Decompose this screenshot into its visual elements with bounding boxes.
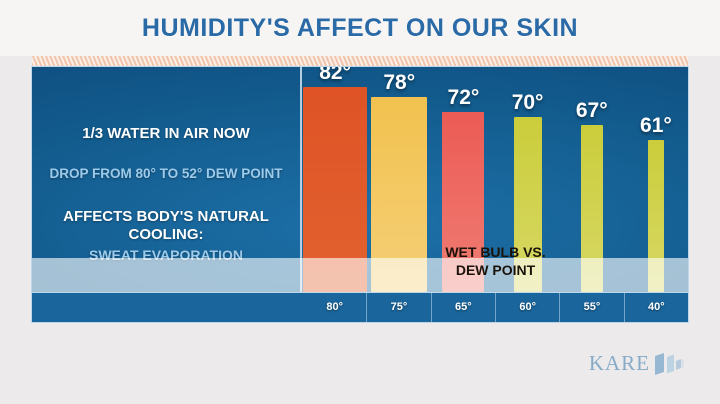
bar-slot: 61° xyxy=(624,67,688,292)
bar-chart-plot: 82°78°72°70°67°61° xyxy=(303,67,688,292)
bar-65 xyxy=(442,112,484,292)
bar-value-label: 78° xyxy=(383,71,415,95)
bar-value-label: 70° xyxy=(512,91,544,115)
bar-75 xyxy=(371,97,427,292)
bar-slot: 70° xyxy=(496,67,560,292)
bar-slot: 78° xyxy=(367,67,431,292)
info-line-cooling: AFFECTS BODY'S NATURAL COOLING: xyxy=(38,208,294,245)
bar-slot: 82° xyxy=(303,67,367,292)
bar-value-label: 82° xyxy=(319,67,351,85)
info-text-column: 1/3 WATER IN AIR NOW DROP FROM 80° TO 52… xyxy=(32,67,300,322)
x-axis-labels: 80°75°65°60°55°40° xyxy=(303,292,688,322)
axis-label-65: 65° xyxy=(431,292,495,322)
axis-label-80: 80° xyxy=(303,292,366,322)
bar-slot: 72° xyxy=(431,67,495,292)
axis-label-75: 75° xyxy=(366,292,430,322)
info-line-sweat: SWEAT EVAPORATION xyxy=(38,247,294,264)
axis-label-55: 55° xyxy=(559,292,623,322)
bar-40 xyxy=(648,140,664,293)
bar-80 xyxy=(303,87,367,292)
bar-value-label: 72° xyxy=(448,86,480,110)
graphic-panel: 1/3 WATER IN AIR NOW DROP FROM 80° TO 52… xyxy=(32,67,688,322)
axis-label-60: 60° xyxy=(495,292,559,322)
bar-value-label: 67° xyxy=(576,99,608,123)
logo-wordmark: KARE xyxy=(589,351,650,376)
bar-chart: 82°78°72°70°67°61° xyxy=(303,67,688,322)
bar-55 xyxy=(581,125,603,293)
page-title: HUMIDITY'S AFFECT ON OUR SKIN xyxy=(142,14,578,43)
hatch-divider xyxy=(32,56,688,67)
axis-label-40: 40° xyxy=(624,292,688,322)
title-bar: HUMIDITY'S AFFECT ON OUR SKIN xyxy=(0,0,720,56)
bar-slot: 67° xyxy=(560,67,624,292)
info-line-water: 1/3 WATER IN AIR NOW xyxy=(38,125,294,143)
bar-60 xyxy=(514,117,542,292)
info-line-dewpoint-drop: DROP FROM 80° TO 52° DEW POINT xyxy=(38,166,294,182)
weather-graphic: HUMIDITY'S AFFECT ON OUR SKIN 1/3 WATER … xyxy=(0,0,720,404)
kare-eleven-mark-icon xyxy=(654,353,684,375)
panel-divider xyxy=(300,67,302,322)
bar-value-label: 61° xyxy=(640,114,672,138)
kare11-logo: KARE xyxy=(589,351,684,376)
